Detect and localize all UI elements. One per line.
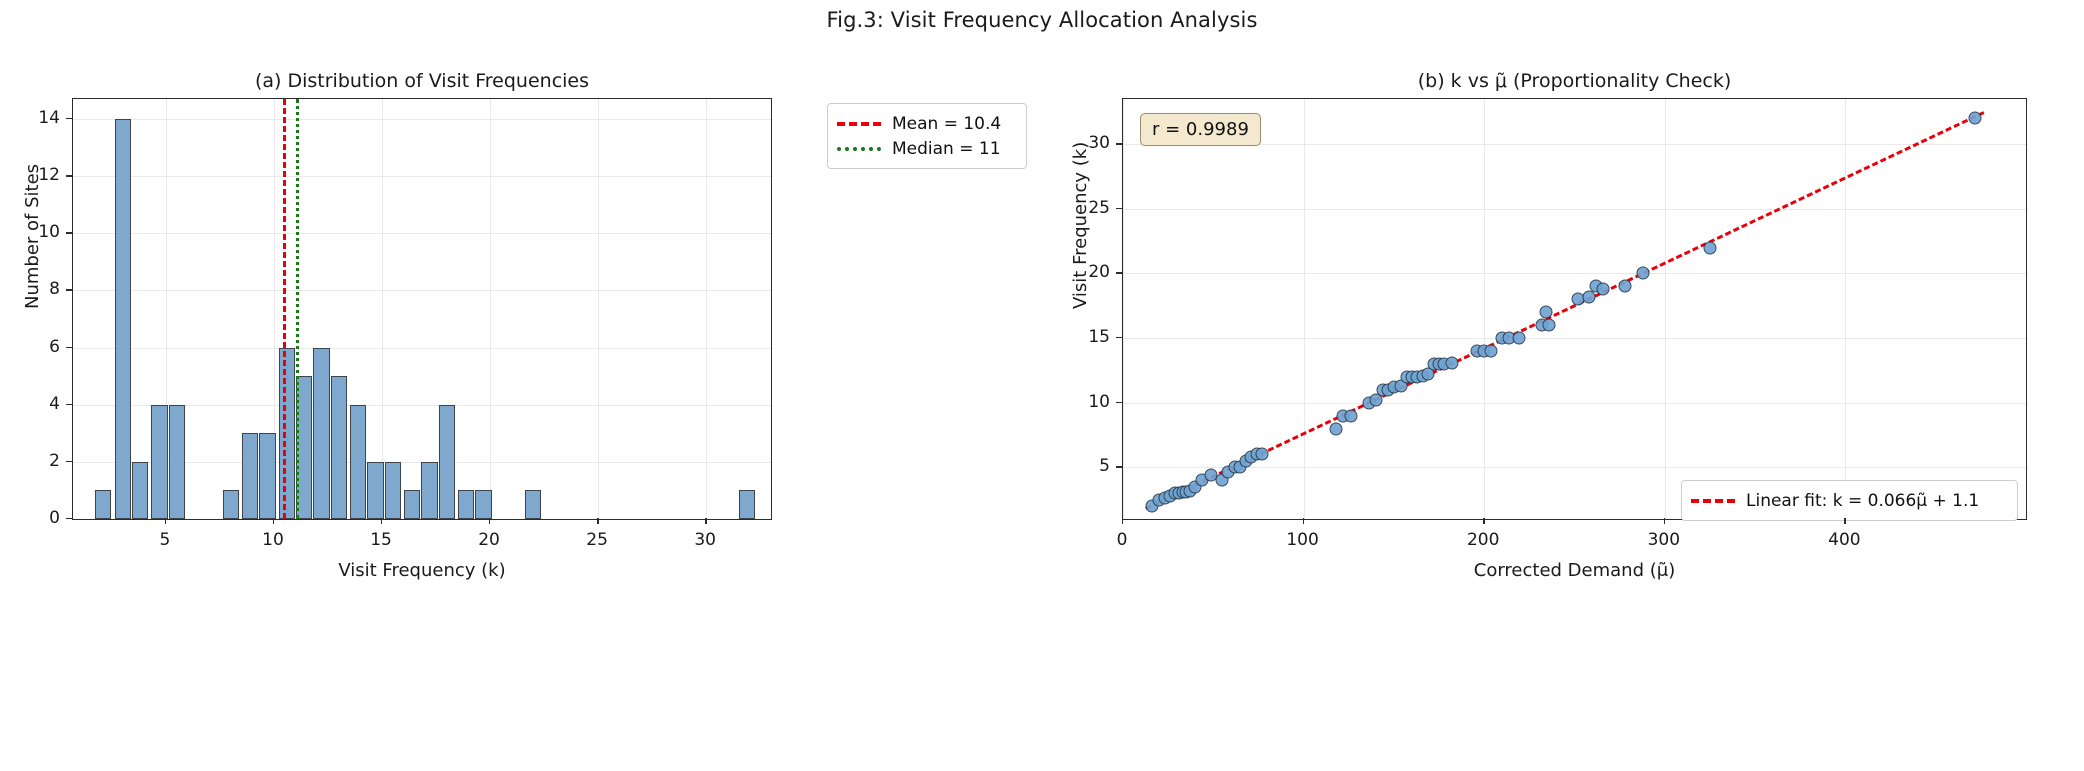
dotted-line-icon [837,147,881,151]
scatter-point [1256,448,1269,461]
histogram-bar [475,490,491,519]
legend-item-linear-fit: Linear fit: k = 0.066μ̃ + 1.1 [1691,488,2007,513]
legend-label-mean: Mean = 10.4 [892,114,1001,134]
histogram-bar [259,433,275,519]
x-tick-mark [1122,518,1123,524]
y-tick-mark [66,404,72,405]
panel-b-title: (b) k vs μ̃ (Proportionality Check) [1122,70,2027,92]
gridline-horizontal [73,233,771,234]
x-tick-mark [273,518,274,524]
x-tick-mark [1483,518,1484,524]
y-tick-mark [66,118,72,119]
histogram-bar [350,405,366,519]
y-tick-label: 10 [26,222,60,242]
dashed-line-icon [837,122,881,126]
x-tick-mark [597,518,598,524]
panel-b-scatter: (b) k vs μ̃ (Proportionality Check) Visi… [1042,0,2084,771]
panel-a-title: (a) Distribution of Visit Frequencies [72,70,772,92]
x-tick-label: 25 [586,530,608,550]
y-tick-mark [66,518,72,519]
panel-b-axes [1122,98,2027,520]
gridline-horizontal [73,348,771,349]
histogram-bar [458,490,474,519]
x-tick-mark [705,518,706,524]
gridline-vertical [1304,99,1305,519]
x-tick-mark [165,518,166,524]
histogram-bar [439,405,455,519]
panel-a-histogram: (a) Distribution of Visit Frequencies Nu… [0,0,1042,771]
vline-median [296,99,299,519]
histogram-bar [331,376,347,519]
gridline-horizontal [1123,403,2026,404]
scatter-point [1969,112,1982,125]
panel-b-ylabel: Visit Frequency (k) [1070,142,1091,309]
scatter-point [1512,332,1525,345]
y-tick-label: 6 [26,337,60,357]
panel-a-axes [72,98,772,520]
y-tick-mark [1116,466,1122,467]
scatter-point [1543,319,1556,332]
linear-fit-line [1145,112,1984,510]
histogram-bar [151,405,167,519]
gridline-vertical [598,99,599,519]
x-tick-label: 10 [262,530,284,550]
y-tick-mark [1116,337,1122,338]
gridline-vertical [706,99,707,519]
y-tick-label: 8 [26,279,60,299]
gridline-vertical [1484,99,1485,519]
histogram-bar [421,462,437,519]
histogram-bar [115,119,131,519]
y-tick-label: 4 [26,394,60,414]
histogram-bar [279,348,295,519]
correlation-annotation: r = 0.9989 [1140,113,1261,146]
scatter-point [1637,267,1650,280]
y-tick-mark [66,175,72,176]
dashed-line-icon [1691,499,1735,503]
histogram-bar [739,490,755,519]
legend-item-median: Median = 11 [837,136,1016,161]
x-tick-mark [1844,518,1845,524]
scatter-point [1619,280,1632,293]
histogram-bar [385,462,401,519]
x-tick-label: 5 [160,530,171,550]
y-tick-label: 10 [1076,392,1110,412]
panel-b-legend: Linear fit: k = 0.066μ̃ + 1.1 [1681,480,2018,521]
y-tick-mark [66,461,72,462]
histogram-bar [223,490,239,519]
y-tick-label: 12 [26,165,60,185]
y-tick-label: 0 [26,508,60,528]
x-tick-mark [1664,518,1665,524]
x-tick-label: 100 [1286,530,1318,550]
x-tick-label: 20 [478,530,500,550]
figure-canvas: Fig.3: Visit Frequency Allocation Analys… [0,0,2084,771]
y-tick-label: 2 [26,451,60,471]
y-tick-mark [66,232,72,233]
panel-b-xlabel: Corrected Demand (μ̃) [1122,560,2027,581]
scatter-point [1539,306,1552,319]
y-tick-mark [1116,143,1122,144]
histogram-bar [169,405,185,519]
x-tick-label: 30 [694,530,716,550]
gridline-horizontal [1123,273,2026,274]
gridline-vertical [1845,99,1846,519]
y-tick-mark [1116,272,1122,273]
legend-label-linear-fit: Linear fit: k = 0.066μ̃ + 1.1 [1746,491,1979,511]
x-tick-label: 300 [1648,530,1680,550]
y-tick-label: 15 [1076,327,1110,347]
x-tick-mark [1303,518,1304,524]
y-tick-label: 5 [1076,456,1110,476]
histogram-bar [525,490,541,519]
gridline-horizontal [1123,209,2026,210]
gridline-horizontal [73,290,771,291]
y-tick-label: 25 [1076,198,1110,218]
x-tick-mark [489,518,490,524]
histogram-bar [242,433,258,519]
gridline-horizontal [73,519,771,520]
gridline-vertical [382,99,383,519]
y-tick-label: 30 [1076,133,1110,153]
y-tick-mark [1116,208,1122,209]
scatter-point [1485,345,1498,358]
scatter-point [1445,356,1458,369]
gridline-horizontal [1123,467,2026,468]
vline-mean [283,99,286,519]
y-tick-mark [66,289,72,290]
x-tick-label: 200 [1467,530,1499,550]
y-tick-label: 20 [1076,262,1110,282]
scatter-point [1597,282,1610,295]
x-tick-label: 15 [370,530,392,550]
x-tick-label: 400 [1828,530,1860,550]
histogram-bar [404,490,420,519]
x-tick-label: 0 [1117,530,1128,550]
histogram-bar [95,490,111,519]
y-tick-mark [66,347,72,348]
histogram-bar [132,462,148,519]
legend-item-mean: Mean = 10.4 [837,111,1016,136]
histogram-bar [367,462,383,519]
gridline-vertical [490,99,491,519]
gridline-horizontal [73,176,771,177]
panel-a-legend: Mean = 10.4 Median = 11 [827,103,1027,169]
y-tick-mark [1116,402,1122,403]
gridline-vertical [1123,99,1124,519]
gridline-horizontal [73,119,771,120]
y-tick-label: 14 [26,108,60,128]
scatter-point [1703,241,1716,254]
scatter-point [1330,422,1343,435]
gridline-horizontal [1123,338,2026,339]
panel-a-xlabel: Visit Frequency (k) [72,560,772,581]
histogram-bar [313,348,329,519]
scatter-point [1344,409,1357,422]
gridline-vertical [1665,99,1666,519]
x-tick-mark [381,518,382,524]
legend-label-median: Median = 11 [892,139,1001,159]
